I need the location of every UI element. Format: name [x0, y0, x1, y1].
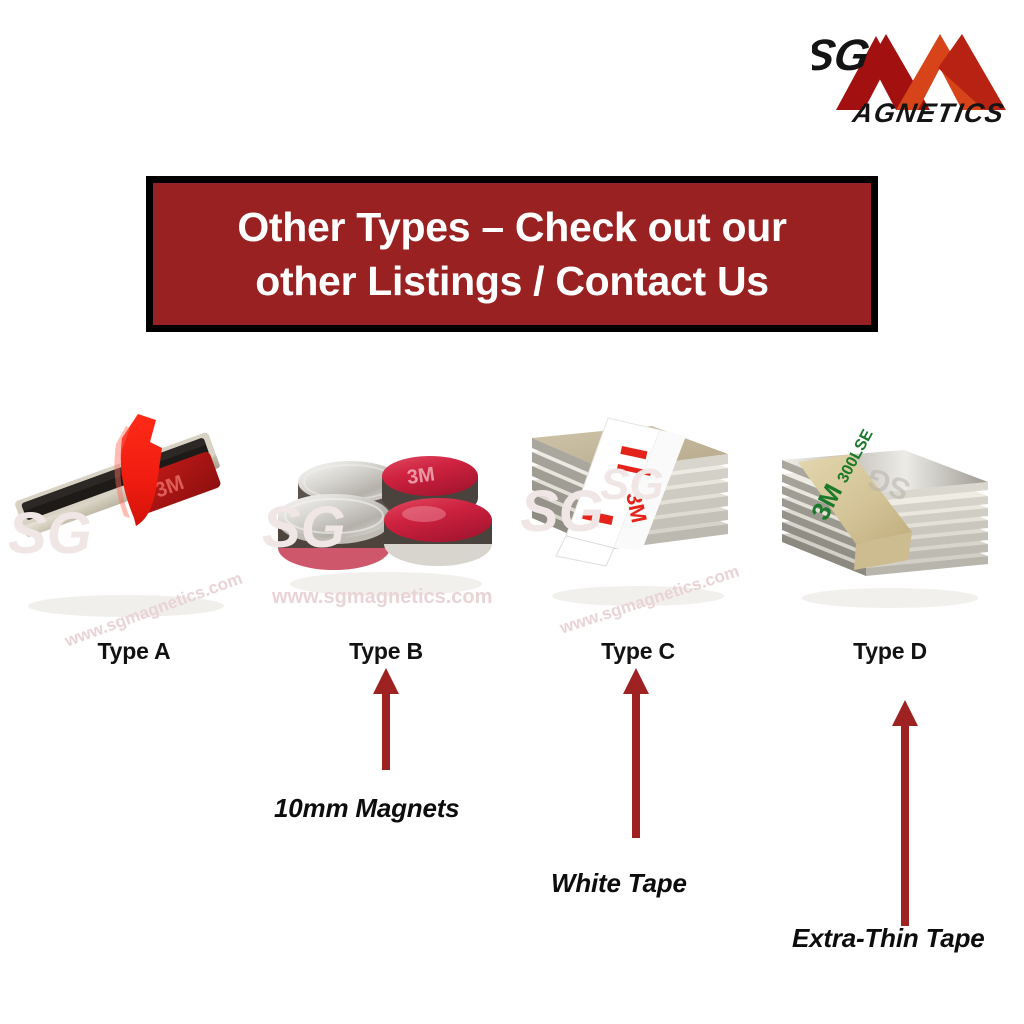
product-caption-type-d: Type D — [762, 638, 1018, 665]
callout-arrow-type-c — [620, 668, 654, 838]
tape-brand-label-b-back: 3M — [406, 463, 437, 489]
disc-magnet-front-left — [278, 494, 390, 570]
headline-banner: Other Types – Check out our other Listin… — [146, 176, 878, 332]
product-cell-type-a: 3M Type A — [6, 398, 262, 678]
product-caption-type-b: Type B — [258, 638, 514, 665]
product-image-type-d: 3M 300LSE SG — [762, 398, 1018, 636]
product-cell-type-c: 3M Type C — [510, 398, 766, 678]
banner-line-2: other Listings / Contact Us — [255, 254, 769, 308]
brand-logo-graphic: SG AGNETICS — [812, 18, 1024, 130]
callout-note-type-d: Extra-Thin Tape — [792, 923, 985, 954]
callout-note-type-b: 10mm Magnets — [274, 793, 459, 824]
product-cell-type-b: 3M Type B — [258, 398, 514, 678]
product-cell-type-d: 3M 300LSE SG Type D — [762, 398, 1018, 678]
callout-arrow-type-b — [370, 668, 404, 770]
brand-logo: SG AGNETICS — [812, 18, 1024, 130]
product-row: 3M Type A — [0, 398, 1024, 678]
product-image-type-c: 3M — [510, 398, 766, 636]
disc-magnet-front-right — [384, 498, 492, 566]
product-caption-type-a: Type A — [6, 638, 262, 665]
logo-text-sg: SG — [812, 31, 873, 80]
product-caption-type-c: Type C — [510, 638, 766, 665]
product-image-type-a: 3M — [6, 398, 262, 636]
banner-line-1: Other Types – Check out our — [237, 200, 786, 254]
callout-note-type-c: White Tape — [551, 868, 687, 899]
logo-text-agnetics: AGNETICS — [850, 97, 1008, 128]
callout-arrow-type-d — [889, 700, 923, 926]
product-image-type-b: 3M — [258, 398, 514, 636]
